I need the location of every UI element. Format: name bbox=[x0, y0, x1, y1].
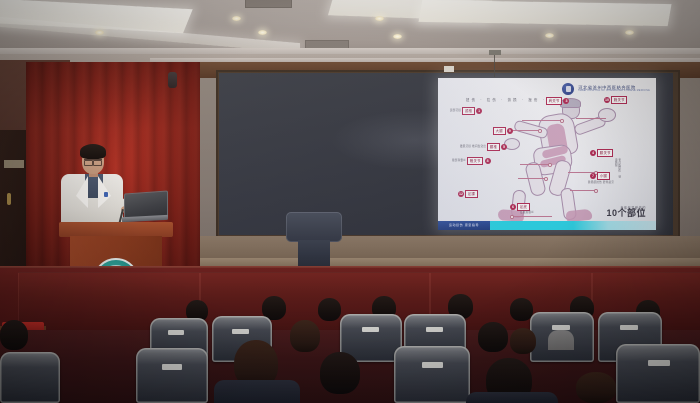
stage-chair-base bbox=[298, 240, 330, 266]
downlight bbox=[375, 16, 384, 21]
slide-callout: 12 足踝 bbox=[458, 190, 478, 198]
callout-label: 颈椎 bbox=[462, 107, 475, 115]
eyeglasses-icon bbox=[84, 159, 102, 164]
slide-callout: 10 腕关节 bbox=[604, 96, 627, 104]
downlight bbox=[232, 16, 241, 21]
callout-note: 腰肌劳损 椎间盘突出 bbox=[460, 145, 486, 148]
callout-label: 肩关节 bbox=[546, 97, 562, 105]
audience-head bbox=[576, 372, 616, 403]
seat-number-tag bbox=[426, 327, 443, 332]
speaker-hair bbox=[80, 144, 106, 159]
projector-cable bbox=[494, 55, 495, 77]
hospital-logo-icon bbox=[561, 82, 575, 96]
callout-note: 腓肠肌拉伤 胫骨疲劳 bbox=[588, 181, 614, 184]
callout-badge: 4 bbox=[590, 150, 596, 156]
slide-callout: 肩关节 3 bbox=[546, 97, 569, 105]
callout-note: 半月板损伤 韧带撕裂 bbox=[614, 158, 621, 180]
callout-badge: 8 bbox=[485, 158, 491, 164]
door-handle-icon[interactable] bbox=[7, 193, 11, 205]
callout-badge: 1 bbox=[476, 108, 482, 114]
slide-callout: 7 小腿 bbox=[590, 172, 610, 180]
callout-note: 颈部劳损 bbox=[450, 109, 461, 112]
callout-badge: 6 bbox=[510, 204, 516, 210]
callout-badge: 3 bbox=[563, 98, 569, 104]
speaker-id-badge bbox=[104, 192, 108, 197]
projected-slide[interactable]: 河北省沧州中西医结合医院 HEBEI HOSPITAL OF INTEGRATE… bbox=[438, 78, 656, 230]
seat-number-tag bbox=[168, 330, 184, 335]
screen-mount-clip bbox=[444, 66, 454, 72]
audience-head bbox=[320, 352, 360, 394]
stage-chair[interactable] bbox=[286, 212, 342, 242]
slide-callout: 6 足底 bbox=[510, 203, 530, 211]
audience-shoulder bbox=[214, 380, 300, 403]
slide-callout: 4 膝关节 bbox=[590, 149, 613, 157]
downlight bbox=[258, 30, 267, 35]
callout-label: 大腿 bbox=[493, 127, 506, 135]
callout-note: 髋部滑囊炎 bbox=[452, 159, 466, 162]
slide-logo-sub: HEBEI HOSPITAL OF INTEGRATED CHINESE MED… bbox=[578, 90, 650, 92]
seat-number-tag bbox=[648, 360, 670, 366]
audience-shoulder bbox=[466, 392, 558, 403]
downlight bbox=[625, 30, 634, 35]
auditorium-chair[interactable] bbox=[616, 344, 700, 403]
callout-badge: 5 bbox=[501, 144, 507, 150]
callout-label: 小腿 bbox=[597, 172, 610, 180]
audience-head bbox=[290, 320, 320, 352]
ceiling-vent bbox=[245, 0, 292, 8]
exit-sign bbox=[4, 160, 24, 168]
auditorium-chair[interactable] bbox=[0, 352, 60, 403]
callout-badge: 7 bbox=[590, 173, 596, 179]
slide-callout: 大腿 9 bbox=[493, 127, 513, 135]
callout-badge: 9 bbox=[507, 128, 513, 134]
callout-badge: 12 bbox=[458, 191, 464, 197]
audience-head bbox=[510, 328, 536, 354]
slide-footer-tab: 运动损伤 康复指导 bbox=[438, 221, 490, 230]
callout-label: 膝关节 bbox=[597, 149, 613, 157]
seat-number-tag bbox=[232, 329, 249, 334]
downlight bbox=[545, 33, 554, 38]
callout-label: 足底 bbox=[517, 203, 530, 211]
seat-number-tag bbox=[620, 325, 638, 330]
callout-label: 髋关节 bbox=[467, 157, 483, 165]
seat-number-tag bbox=[422, 362, 443, 368]
auditorium-lecture-scene: 河北省沧州中西医结合医院 HEBEI HOSPITAL OF INTEGRATE… bbox=[0, 0, 700, 403]
audience-shoulder bbox=[548, 330, 574, 350]
slide-logo: 河北省沧州中西医结合医院 HEBEI HOSPITAL OF INTEGRATE… bbox=[561, 82, 650, 96]
ceiling-mount-box bbox=[489, 50, 501, 55]
callout-note: 足底筋膜炎 bbox=[520, 211, 534, 214]
auditorium-chair[interactable] bbox=[136, 348, 208, 403]
ceiling-panel-light bbox=[418, 0, 671, 26]
audience-head bbox=[478, 322, 508, 352]
audience-head bbox=[0, 320, 28, 350]
downlight bbox=[393, 34, 402, 39]
podium-top bbox=[59, 222, 173, 237]
wall-speaker-icon bbox=[168, 72, 177, 88]
downlight bbox=[95, 30, 104, 35]
slide-callout: 髋部滑囊炎 髋关节 8 bbox=[452, 157, 491, 165]
callout-badge: 10 bbox=[604, 97, 610, 103]
callout-label: 腕关节 bbox=[611, 96, 627, 104]
slide-headline-big: 10个部位 bbox=[606, 206, 646, 219]
slide-callout: 颈部劳损 颈椎 1 bbox=[450, 107, 482, 115]
seat-number-tag bbox=[362, 327, 379, 332]
auditorium-chair[interactable] bbox=[394, 346, 470, 403]
callout-label: 腰椎 bbox=[487, 143, 500, 151]
callout-label: 足踝 bbox=[465, 190, 478, 198]
seat-number-tag bbox=[162, 364, 182, 370]
slide-callout: 腰肌劳损 椎间盘突出 腰椎 5 bbox=[460, 143, 507, 151]
audience-head bbox=[318, 298, 341, 321]
audience-head bbox=[510, 298, 533, 321]
